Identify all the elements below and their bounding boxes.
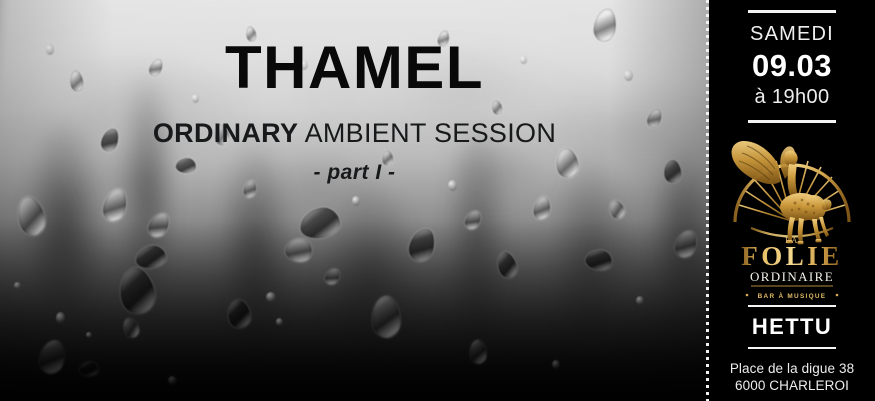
winged-deer-icon [732, 141, 832, 244]
venue-logo-graphic: LA FOLIE ORDINAIRE BAR À MUSIQUE [717, 129, 867, 301]
logo-name-line2: ORDINAIRE [750, 269, 834, 284]
venue-address: Place de la digue 38 6000 CHARLEROI [709, 360, 875, 395]
address-line-1: Place de la digue 38 [709, 360, 875, 377]
rule-above-artist [748, 305, 836, 307]
date-day-month: 09.03 [709, 50, 875, 81]
logo-tagline: BAR À MUSIQUE [758, 291, 827, 300]
address-line-2: 6000 CHARLEROI [709, 377, 875, 394]
headline-block: THAMEL ORDINARY AMBIENT SESSION - part I… [0, 38, 709, 185]
date-weekday: SAMEDI [709, 24, 875, 44]
logo-name-line1: FOLIE [741, 241, 843, 271]
supporting-artist-name: HETTU [709, 316, 875, 338]
logo-bullet-right [836, 294, 839, 297]
event-artist-title: THAMEL [0, 38, 709, 98]
logo-bullet-left [746, 294, 749, 297]
rule-above-date [748, 10, 836, 13]
date-start-time: à 19h00 [709, 87, 875, 107]
event-subtitle-light: AMBIENT SESSION [298, 118, 556, 148]
event-subtitle-bold: ORDINARY [153, 118, 298, 148]
date-block: SAMEDI 09.03 à 19h00 [709, 0, 875, 123]
artist-block: HETTU [709, 305, 875, 349]
venue-logo: LA FOLIE ORDINAIRE BAR À MUSIQUE [709, 129, 875, 301]
event-poster: THAMEL ORDINARY AMBIENT SESSION - part I… [0, 0, 875, 401]
ticket-perforation-divider [706, 0, 709, 401]
event-part-label: - part I - [0, 161, 709, 185]
rule-below-date [748, 120, 836, 123]
ticket-stub-panel: SAMEDI 09.03 à 19h00 [709, 0, 875, 401]
rule-below-artist [748, 347, 836, 349]
event-subtitle: ORDINARY AMBIENT SESSION [0, 120, 709, 147]
